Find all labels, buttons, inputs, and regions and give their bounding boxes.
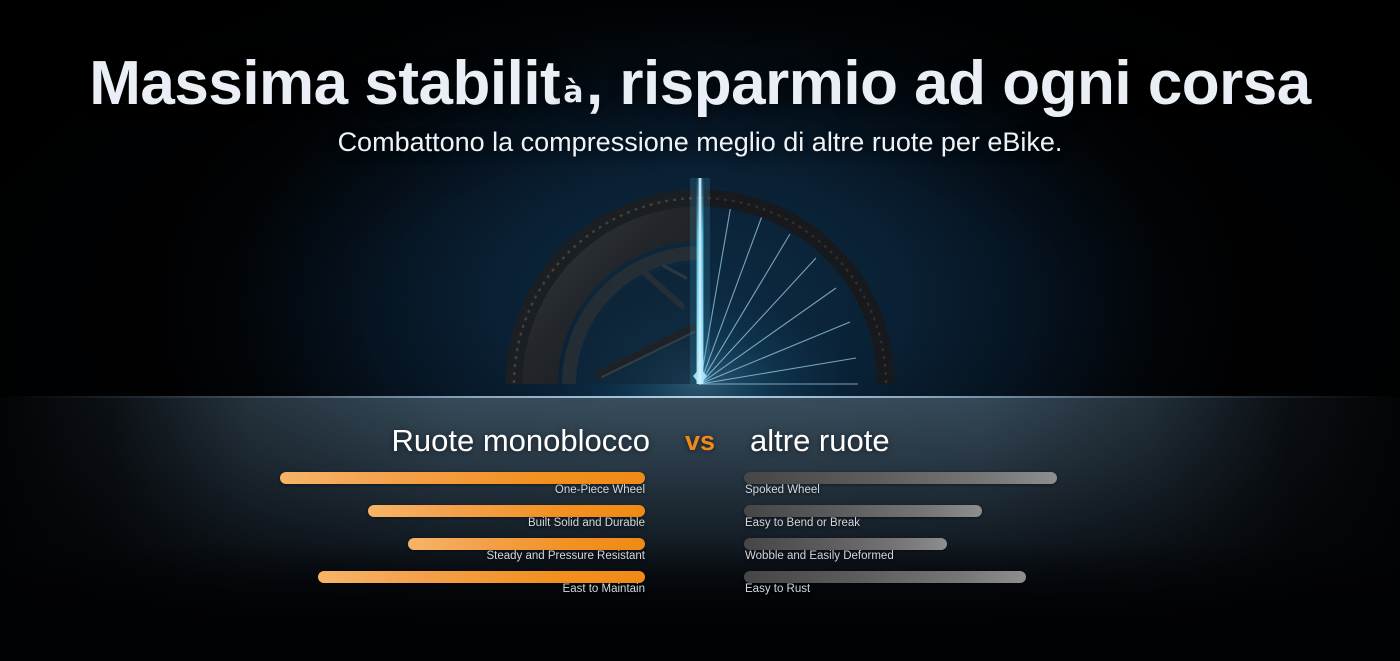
comparison-right-heading: altre ruote	[750, 423, 1020, 459]
bar-label-right: Easy to Bend or Break	[745, 517, 860, 529]
page-subtitle: Combattono la compressione meglio di alt…	[0, 128, 1400, 158]
comparison-row: East to Maintain Easy to Rust	[0, 569, 1400, 602]
title-accent-char: à	[560, 75, 586, 110]
bar-label-right: Spoked Wheel	[745, 484, 820, 496]
bar-easy-to-rust	[744, 571, 1026, 583]
bar-label-right: Easy to Rust	[745, 583, 810, 595]
title-part-1: Massima stabilit	[89, 49, 560, 118]
bar-steady-pressure-resistant	[408, 538, 645, 550]
bar-label-left: East to Maintain	[563, 583, 645, 595]
bar-wobble-easily-deformed	[744, 538, 947, 550]
comparison-bar-chart: One-Piece Wheel Spoked Wheel Built Solid…	[0, 470, 1400, 610]
bicycle-wheel-graphic	[450, 178, 950, 398]
comparison-row: One-Piece Wheel Spoked Wheel	[0, 470, 1400, 503]
hero-headings: Massima stabilità, risparmio ad ogni cor…	[0, 0, 1400, 158]
bar-label-left: Built Solid and Durable	[528, 517, 645, 529]
versus-label: vs	[650, 426, 750, 457]
comparison-row: Built Solid and Durable Easy to Bend or …	[0, 503, 1400, 536]
comparison-headings: Ruote monoblocco vs altre ruote	[0, 418, 1400, 464]
bar-track-right	[744, 538, 1344, 550]
title-part-2: , risparmio ad ogni corsa	[586, 49, 1311, 118]
bar-track-left	[45, 472, 645, 484]
bar-built-solid-durable	[368, 505, 645, 517]
bar-label-left: Steady and Pressure Resistant	[486, 550, 645, 562]
page-title: Massima stabilità, risparmio ad ogni cor…	[0, 53, 1400, 115]
bar-one-piece-wheel	[280, 472, 645, 484]
bar-track-left	[45, 538, 645, 550]
comparison-row: Steady and Pressure Resistant Wobble and…	[0, 536, 1400, 569]
bar-track-right	[744, 505, 1344, 517]
bar-track-left	[45, 571, 645, 583]
bar-track-right	[744, 472, 1344, 484]
bar-spoked-wheel	[744, 472, 1057, 484]
bar-east-to-maintain	[318, 571, 645, 583]
bar-track-right	[744, 571, 1344, 583]
comparison-left-heading: Ruote monoblocco	[380, 423, 650, 459]
bar-track-left	[45, 505, 645, 517]
bar-label-left: One-Piece Wheel	[555, 484, 645, 496]
bar-label-right: Wobble and Easily Deformed	[745, 550, 894, 562]
bar-easy-to-bend-or-break	[744, 505, 982, 517]
promo-banner: Massima stabilità, risparmio ad ogni cor…	[0, 0, 1400, 661]
